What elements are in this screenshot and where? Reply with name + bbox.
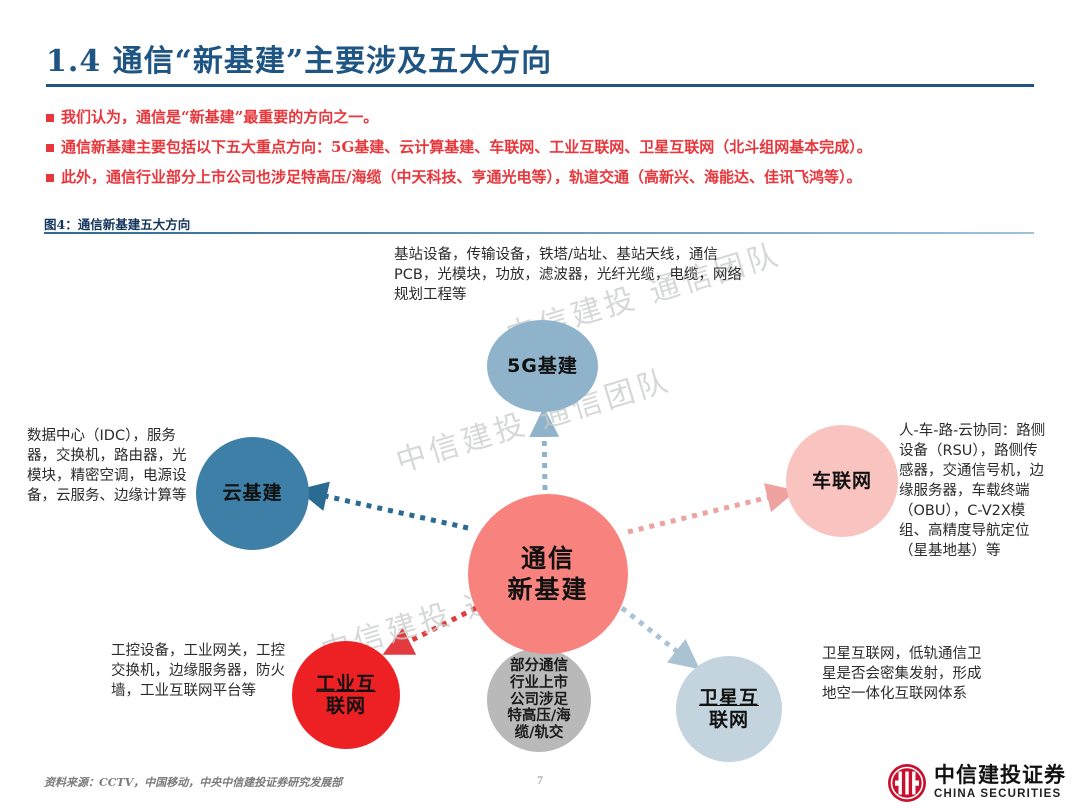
- description-car: 人-车-路-云协同：路侧设备（RSU），路侧传感器，交通信号机，边缘服务器，车载…: [899, 421, 1051, 561]
- arrow-center-to-cloud: [312, 493, 468, 528]
- figure-divider: [44, 232, 1034, 234]
- node-internet-of-vehicles[interactable]: 车联网: [786, 425, 898, 537]
- bullet-square-icon: [46, 144, 54, 152]
- bullet-text: 我们认为，通信是“新基建”最重要的方向之一。: [61, 108, 378, 127]
- arrow-center-to-car: [628, 494, 782, 532]
- bullet-list: 我们认为，通信是“新基建”最重要的方向之一。 通信新基建主要包括以下五大重点方向…: [46, 108, 1046, 198]
- node-satellite-internet[interactable]: 卫星互 联网: [676, 656, 782, 762]
- node-label-line: 卫星互: [699, 687, 759, 709]
- bullet-item: 通信新基建主要包括以下五大重点方向：5G基建、云计算基建、车联网、工业互联网、卫…: [46, 138, 1046, 157]
- arrow-center-to-5g: [544, 422, 545, 490]
- node-label-line: 部分通信: [510, 658, 568, 675]
- arrow-center-to-industrial: [396, 608, 476, 648]
- logo-text-cn: 中信建投证券: [934, 765, 1066, 786]
- title-divider: [46, 84, 1034, 87]
- figure-caption: 图4：通信新基建五大方向: [44, 214, 190, 233]
- bullet-item: 我们认为，通信是“新基建”最重要的方向之一。: [46, 108, 1046, 127]
- node-label-line: 联网: [709, 709, 749, 731]
- bullet-text: 此外，通信行业部分上市公司也涉足特高压/海缆（中天科技、亨通光电等），轨道交通（…: [61, 168, 861, 187]
- bullet-item: 此外，通信行业部分上市公司也涉足特高压/海缆（中天科技、亨通光电等），轨道交通（…: [46, 168, 1046, 187]
- node-label-line: 行业上市: [510, 675, 568, 692]
- description-cloud: 数据中心（IDC），服务器，交换机，路由器，光模块，精密空调，电源设备，云服务、…: [27, 426, 199, 506]
- node-extra-uhv-cable-rail[interactable]: 部分通信 行业上市 公司涉足 特高压/海 缆/轨交: [487, 648, 591, 752]
- citic-emblem-icon: [887, 763, 927, 803]
- node-label-line: 云基建: [222, 482, 282, 504]
- node-label-line: 5G基建: [507, 355, 578, 377]
- node-label-line: 公司涉足: [510, 692, 568, 709]
- bullet-square-icon: [46, 114, 54, 122]
- node-cloud-infrastructure[interactable]: 云基建: [196, 437, 309, 550]
- bullet-text: 通信新基建主要包括以下五大重点方向：5G基建、云计算基建、车联网、工业互联网、卫…: [61, 138, 872, 157]
- node-center-telecom-new-infra[interactable]: 通信 新基建: [468, 494, 628, 654]
- logo-wordmark: 中信建投证券 CHINA SECURITIES: [934, 765, 1066, 801]
- description-industrial: 工控设备，工业网关，工控交换机，边缘服务器，防火墙，工业互联网平台等: [111, 641, 289, 701]
- slide-root: 1.4 通信“新基建”主要涉及五大方向 我们认为，通信是“新基建”最重要的方向之…: [0, 0, 1080, 810]
- node-label-line: 联网: [326, 695, 366, 717]
- node-label-line: 工业互: [316, 673, 376, 695]
- description-satellite: 卫星互联网，低轨通信卫星是否会密集发射，形成地空一体化互联网体系: [822, 644, 992, 704]
- logo-text-en: CHINA SECURITIES: [934, 789, 1066, 801]
- figure-diagram: 中信建投 通信团队 中信建投 通信团队 中信建投 通信团队 通信 新基建 5G基…: [0, 236, 1080, 756]
- description-5g: 基站设备，传输设备，铁塔/站址、基站天线，通信PCB，光模块，功放，滤波器，光纤…: [394, 245, 744, 305]
- bullet-square-icon: [46, 174, 54, 182]
- node-label-line: 车联网: [812, 470, 872, 492]
- node-label-line: 缆/轨交: [515, 725, 564, 742]
- company-logo: 中信建投证券 CHINA SECURITIES: [887, 763, 1066, 803]
- arrow-center-to-satellite: [622, 608, 688, 660]
- node-5g-infrastructure[interactable]: 5G基建: [487, 320, 598, 412]
- node-industrial-internet[interactable]: 工业互 联网: [292, 641, 400, 749]
- node-label-line: 新基建: [507, 574, 588, 606]
- page-title: 1.4 通信“新基建”主要涉及五大方向: [46, 36, 552, 80]
- node-label-line: 特高压/海: [507, 708, 570, 725]
- node-label-line: 通信: [521, 543, 575, 575]
